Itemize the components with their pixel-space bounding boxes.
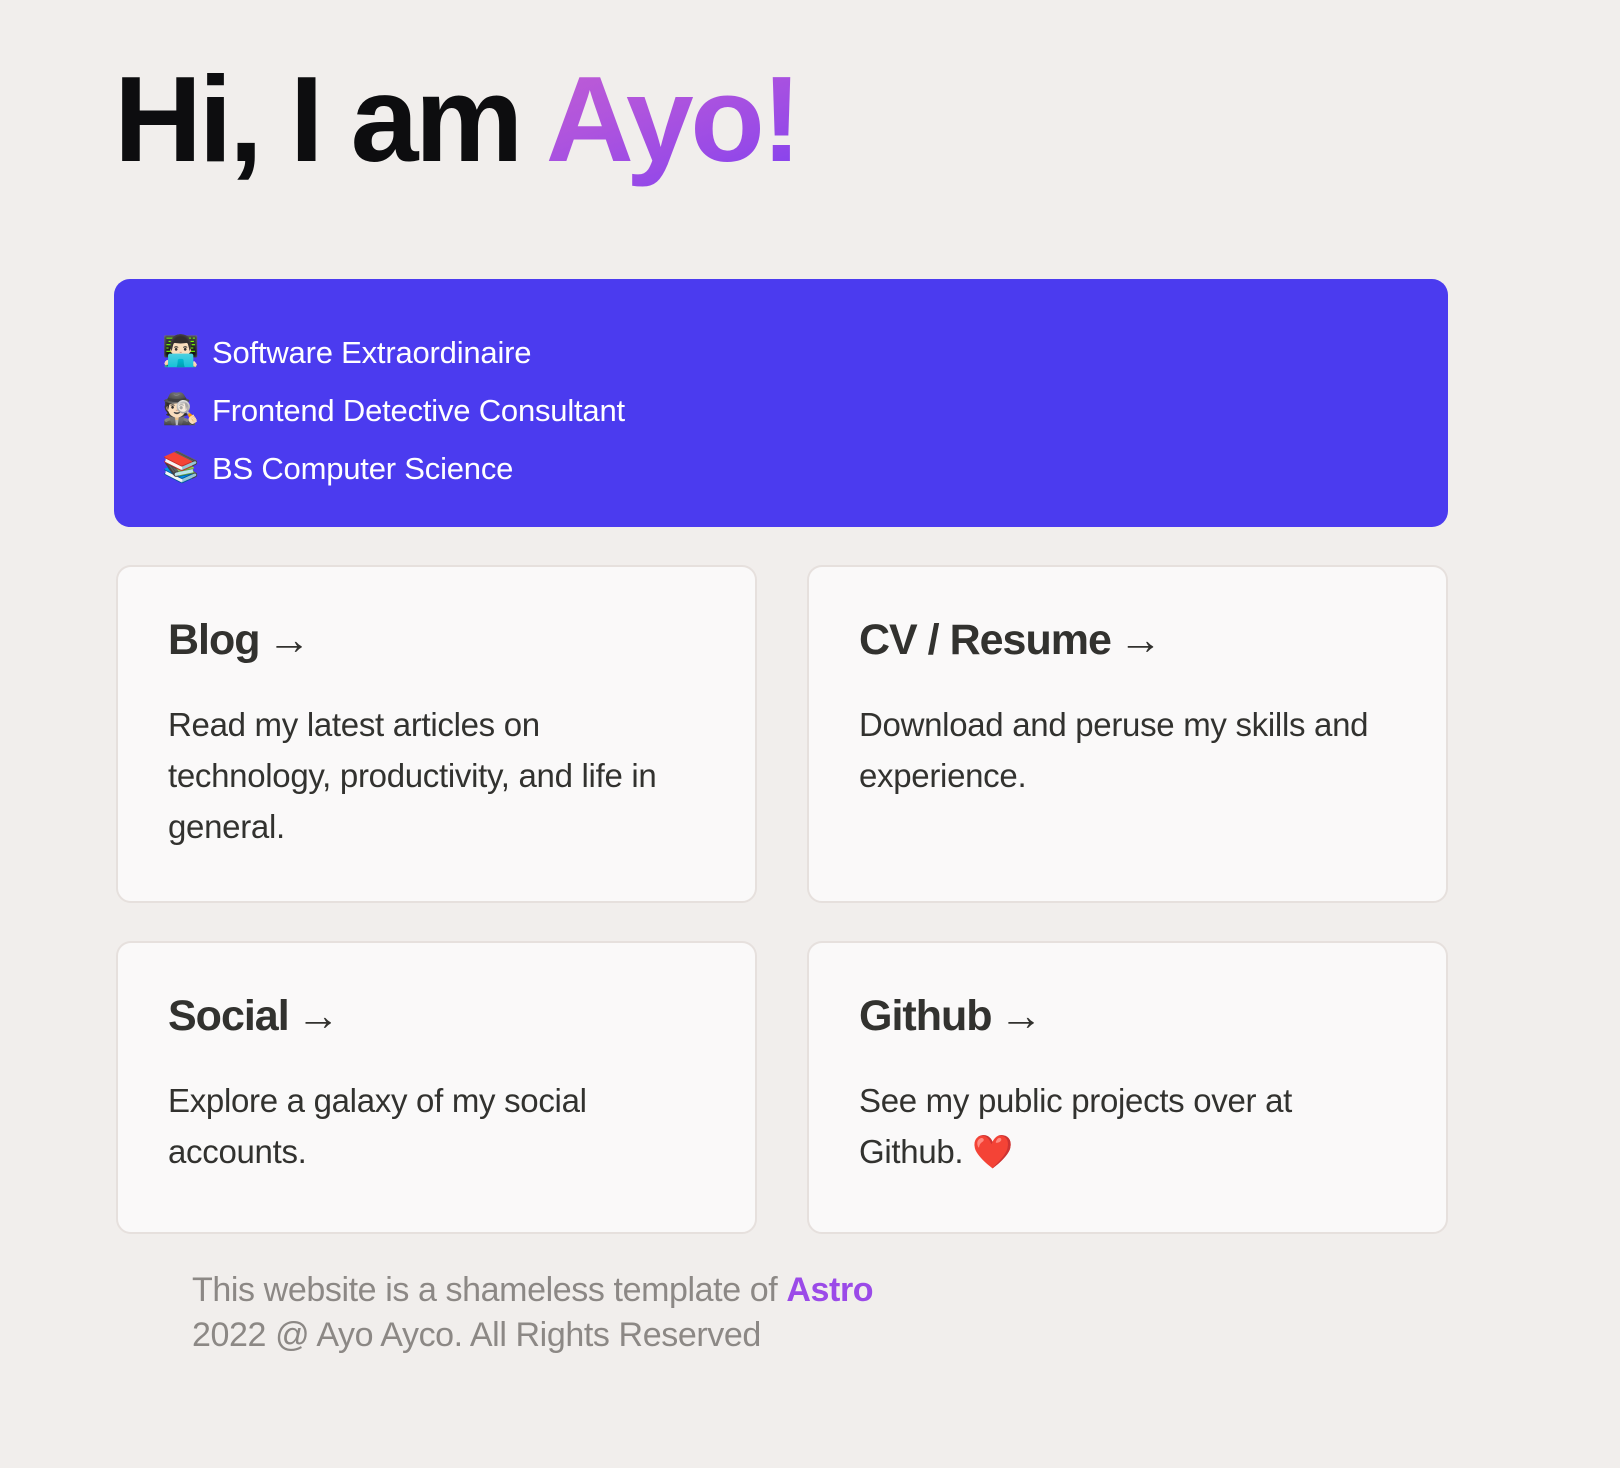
card-description: See my public projects over at Github. ❤…	[859, 1075, 1398, 1177]
hero-name-text: Ayo!	[546, 51, 799, 187]
footer-copyright: 2022 @ Ayo Ayco. All Rights Reserved	[192, 1313, 873, 1358]
info-panel: 👨🏻‍💻 Software Extraordinaire 🕵🏻 Frontend…	[114, 279, 1448, 527]
astro-link[interactable]: Astro	[786, 1271, 873, 1309]
man-technologist-emoji: 👨🏻‍💻	[162, 337, 198, 367]
card-social[interactable]: Social→ Explore a galaxy of my social ac…	[116, 941, 757, 1234]
list-item: 🕵🏻 Frontend Detective Consultant	[162, 381, 1448, 439]
card-description: Download and peruse my skills and experi…	[859, 699, 1398, 801]
hero-greeting-text: Hi, I am	[114, 51, 546, 187]
info-list: 👨🏻‍💻 Software Extraordinaire 🕵🏻 Frontend…	[162, 323, 1448, 497]
arrow-right-icon: →	[1000, 995, 1042, 1038]
link-card-grid: Blog→ Read my latest articles on technol…	[116, 565, 1448, 1234]
card-github[interactable]: Github→ See my public projects over at G…	[807, 941, 1448, 1234]
card-title: Social→	[168, 995, 707, 1038]
arrow-right-icon: →	[268, 619, 310, 662]
list-item: 📚 BS Computer Science	[162, 439, 1448, 497]
info-item-label: Frontend Detective Consultant	[212, 395, 625, 426]
arrow-right-icon: →	[297, 995, 339, 1038]
footer-credit-text: This website is a shameless template of	[192, 1271, 786, 1309]
card-title-text: Github	[859, 992, 992, 1040]
card-cv-resume[interactable]: CV / Resume→ Download and peruse my skil…	[807, 565, 1448, 903]
card-blog[interactable]: Blog→ Read my latest articles on technol…	[116, 565, 757, 903]
books-emoji: 📚	[162, 453, 198, 483]
list-item: 👨🏻‍💻 Software Extraordinaire	[162, 323, 1448, 381]
page-title: Hi, I am Ayo!	[114, 55, 798, 184]
info-item-label: BS Computer Science	[212, 453, 513, 484]
card-title: Blog→	[168, 619, 707, 662]
card-title: CV / Resume→	[859, 619, 1398, 662]
arrow-right-icon: →	[1119, 619, 1161, 662]
footer-template-credit: This website is a shameless template of …	[192, 1268, 873, 1313]
portfolio-homepage: Hi, I am Ayo! 👨🏻‍💻 Software Extraordinai…	[0, 0, 1620, 1468]
info-item-label: Software Extraordinaire	[212, 337, 531, 368]
card-title: Github→	[859, 995, 1398, 1038]
card-description: Explore a galaxy of my social accounts.	[168, 1075, 707, 1177]
card-title-text: Social	[168, 992, 289, 1040]
card-description: Read my latest articles on technology, p…	[168, 699, 707, 852]
card-title-text: CV / Resume	[859, 616, 1111, 664]
page-footer: This website is a shameless template of …	[192, 1268, 873, 1358]
detective-emoji: 🕵🏻	[162, 395, 198, 425]
card-title-text: Blog	[168, 616, 260, 664]
